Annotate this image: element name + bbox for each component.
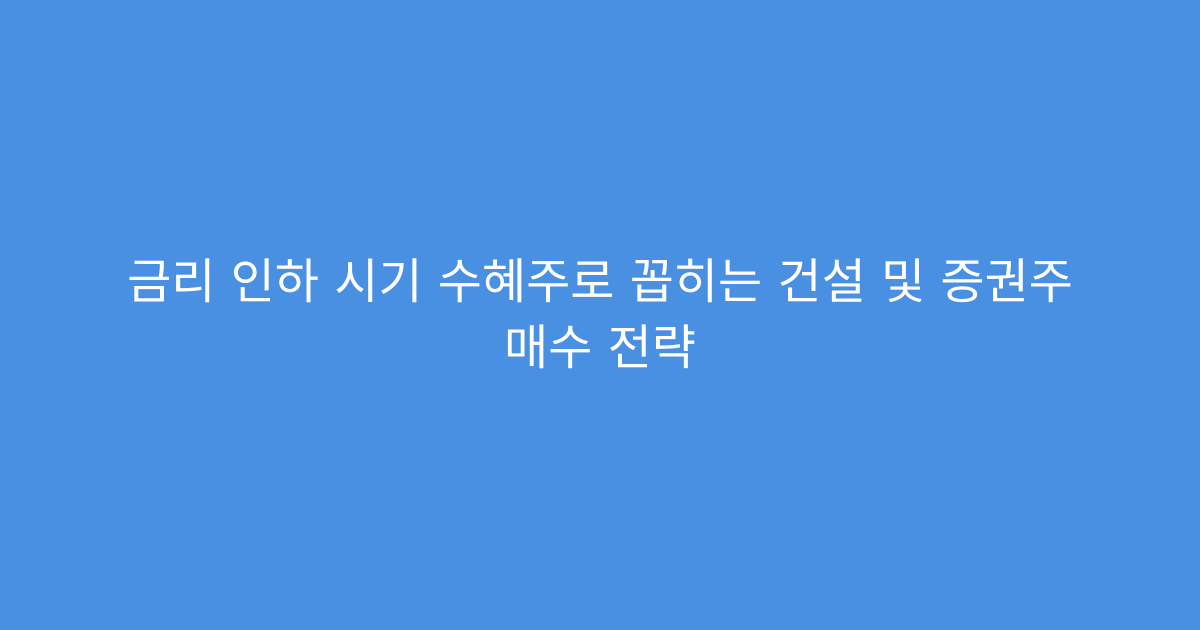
page-title: 금리 인하 시기 수혜주로 꼽히는 건설 및 증권주 매수 전략 — [95, 249, 1105, 381]
social-share-card: 금리 인하 시기 수혜주로 꼽히는 건설 및 증권주 매수 전략 — [0, 0, 1200, 630]
